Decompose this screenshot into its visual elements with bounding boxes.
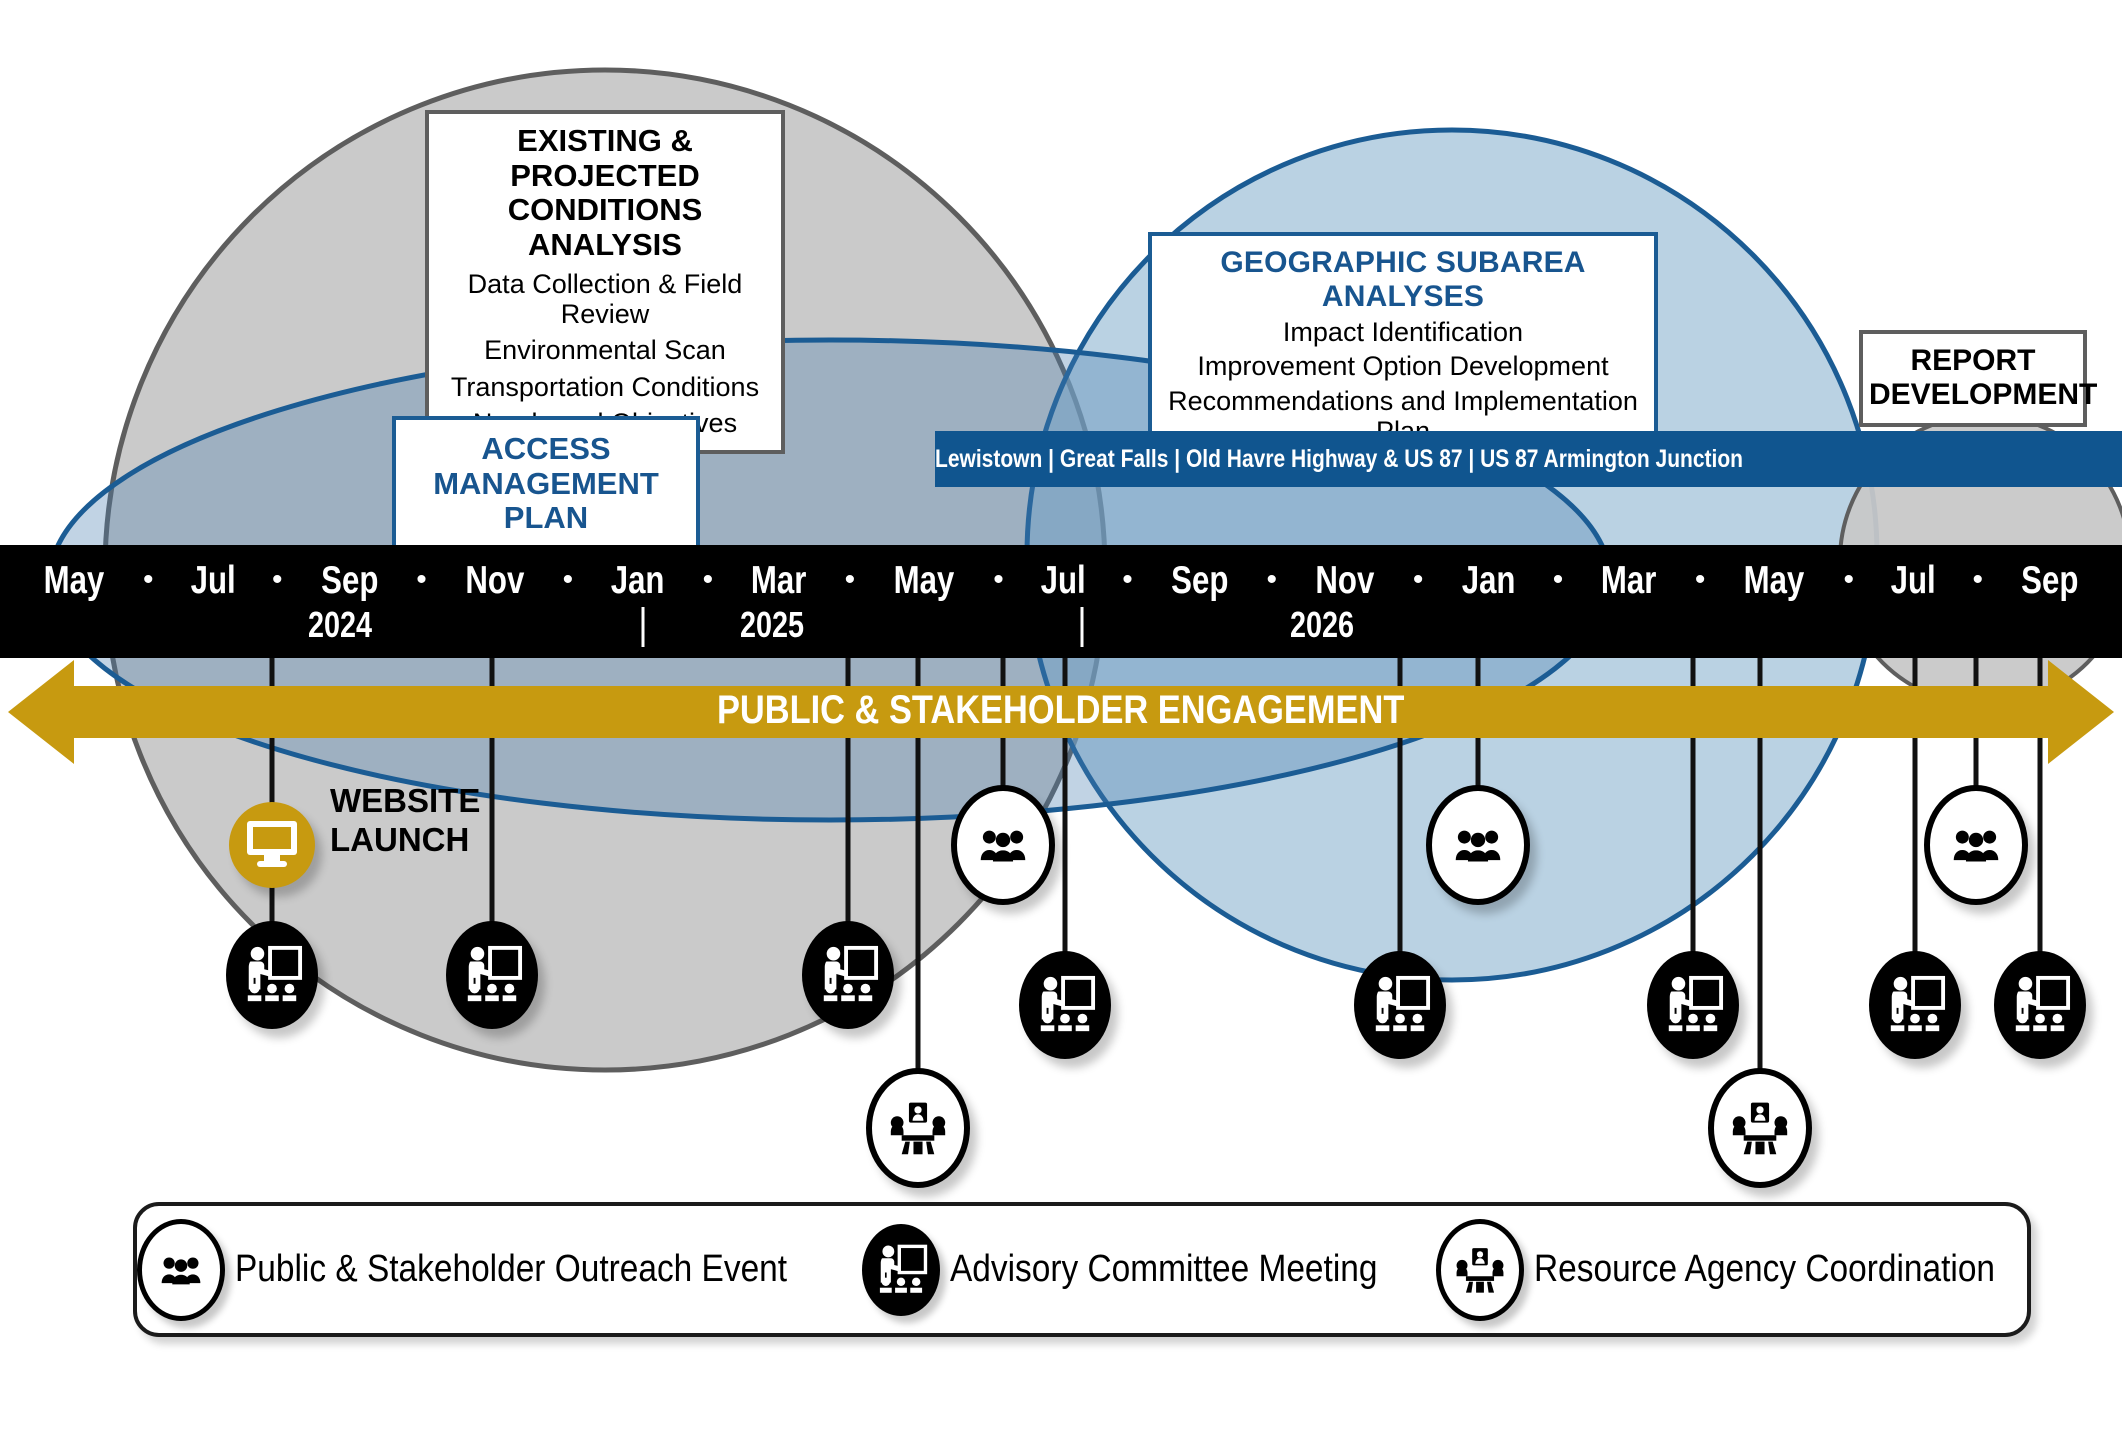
- timeline-separator: •: [563, 565, 574, 595]
- report-heading-line2: DEVELOPMENT: [1869, 378, 2077, 412]
- advisory-committee-meeting-icon: [817, 944, 879, 1006]
- legend: Public & Stakeholder Outreach EventAdvis…: [133, 1202, 2031, 1337]
- advisory-committee-meeting-icon: [1662, 974, 1724, 1036]
- public-stakeholder-outreach-event-icon: [1447, 822, 1509, 868]
- milestone-public-stakeholder-outreach-event[interactable]: [951, 785, 1055, 905]
- milestone-public-stakeholder-outreach-event[interactable]: [1924, 785, 2028, 905]
- milestone-advisory-committee-meeting[interactable]: [1647, 951, 1739, 1059]
- monitor-icon: [244, 819, 300, 871]
- conditions-heading-line1: EXISTING & PROJECTED: [437, 124, 773, 193]
- timeline-month-9: Nov: [1315, 561, 1374, 600]
- milestone-advisory-committee-meeting[interactable]: [1019, 951, 1111, 1059]
- timeline-month-4: Jan: [611, 561, 665, 600]
- timeline-month-1: Jul: [190, 561, 235, 600]
- timeline-bar: May•Jul•Sep•Nov•Jan•Mar•May•Jul•Sep•Nov•…: [0, 545, 2122, 658]
- timeline-separator: •: [1553, 565, 1564, 595]
- timeline-years: 202420252026: [0, 607, 2122, 655]
- subarea-locations-banner: Lewistown | Great Falls | Old Havre High…: [935, 431, 2122, 487]
- legend-label-0: Public & Stakeholder Outreach Event: [235, 1248, 787, 1291]
- milestone-advisory-committee-meeting[interactable]: [226, 921, 318, 1029]
- timeline-separator: •: [1413, 565, 1424, 595]
- timeline-month-12: May: [1744, 561, 1805, 600]
- advisory-committee-meeting-icon: [1369, 974, 1431, 1036]
- timeline-month-8: Sep: [1171, 561, 1228, 600]
- timeline-months: May•Jul•Sep•Nov•Jan•Mar•May•Jul•Sep•Nov•…: [0, 551, 2122, 609]
- timeline-year-2026: 2026: [1290, 607, 1354, 643]
- timeline-month-6: May: [894, 561, 955, 600]
- presenter-board-icon: [874, 1243, 928, 1297]
- milestone-bubble: [802, 921, 894, 1029]
- timeline-month-14: Sep: [2021, 561, 2078, 600]
- subarea-item-0: Impact Identification: [1160, 317, 1646, 347]
- milestone-advisory-committee-meeting[interactable]: [1869, 951, 1961, 1059]
- advisory-committee-meeting-icon: [2009, 974, 2071, 1036]
- phase-box-access-management: ACCESS MANAGEMENT PLAN: [392, 416, 700, 554]
- timeline-separator: •: [1267, 565, 1278, 595]
- phase-box-subarea: GEOGRAPHIC SUBAREA ANALYSES Impact Ident…: [1148, 232, 1658, 462]
- public-stakeholder-outreach-event-icon: [1945, 822, 2007, 868]
- milestone-bubble: [1994, 951, 2086, 1059]
- timeline-month-3: Nov: [465, 561, 524, 600]
- timeline-separator: •: [845, 565, 856, 595]
- advisory-committee-meeting-icon: [461, 944, 523, 1006]
- subarea-heading: GEOGRAPHIC SUBAREA ANALYSES: [1160, 246, 1646, 313]
- timeline-separator: •: [1695, 565, 1706, 595]
- website-launch-label-line1: WEBSITE: [330, 782, 480, 821]
- conditions-item-2: Transportation Conditions: [437, 372, 773, 402]
- resource-agency-coordination-icon: [1731, 1099, 1789, 1157]
- timeline-diagram: EXISTING & PROJECTED CONDITIONS ANALYSIS…: [0, 0, 2122, 1444]
- phase-box-conditions: EXISTING & PROJECTED CONDITIONS ANALYSIS…: [425, 110, 785, 454]
- legend-label-2: Resource Agency Coordination: [1534, 1248, 1995, 1291]
- milestone-public-stakeholder-outreach-event[interactable]: [1426, 785, 1530, 905]
- milestone-bubble: [446, 921, 538, 1029]
- report-heading-line1: REPORT: [1869, 344, 2077, 378]
- timeline-separator: •: [1843, 565, 1854, 595]
- timeline-separator: •: [1973, 565, 1984, 595]
- people-group-icon: [154, 1250, 208, 1290]
- timeline-separator: •: [993, 565, 1004, 595]
- milestone-bubble: [1426, 785, 1530, 905]
- milestone-advisory-committee-meeting[interactable]: [1994, 951, 2086, 1059]
- timeline-separator: •: [1122, 565, 1133, 595]
- milestone-bubble: [1924, 785, 2028, 905]
- public-stakeholder-outreach-event-icon: [972, 822, 1034, 868]
- timeline-month-2: Sep: [321, 561, 378, 600]
- subarea-locations-text: Lewistown | Great Falls | Old Havre High…: [935, 445, 1725, 474]
- timeline-month-5: Mar: [751, 561, 806, 600]
- timeline-month-7: Jul: [1040, 561, 1085, 600]
- legend-item-1: Advisory Committee Meeting: [862, 1224, 1436, 1316]
- milestone-bubble: [951, 785, 1055, 905]
- milestone-bubble: [1708, 1068, 1812, 1188]
- milestone-advisory-committee-meeting[interactable]: [1354, 951, 1446, 1059]
- milestone-bubble: [1647, 951, 1739, 1059]
- timeline-month-13: Jul: [1891, 561, 1936, 600]
- legend-item-2: Resource Agency Coordination: [1436, 1219, 2058, 1321]
- timeline-month-10: Jan: [1461, 561, 1515, 600]
- conditions-heading-line2: CONDITIONS ANALYSIS: [437, 193, 773, 262]
- timeline-month-0: May: [44, 561, 105, 600]
- website-launch-label: WEBSITE LAUNCH: [330, 782, 480, 860]
- milestone-bubble: [1869, 951, 1961, 1059]
- timeline-month-11: Mar: [1601, 561, 1656, 600]
- milestone-resource-agency-coordination[interactable]: [866, 1068, 970, 1188]
- timeline-year-2024: 2024: [307, 607, 371, 643]
- milestone-advisory-committee-meeting[interactable]: [446, 921, 538, 1029]
- legend-icon-wrapper: [137, 1219, 225, 1321]
- phase-box-report-development: REPORT DEVELOPMENT: [1859, 330, 2087, 427]
- website-launch-bubble: [229, 802, 315, 888]
- timeline-year-2025: 2025: [740, 607, 804, 643]
- timeline-separator: •: [416, 565, 427, 595]
- milestone-bubble: [226, 921, 318, 1029]
- resource-agency-coordination-icon: [889, 1099, 947, 1157]
- access-management-heading-line2: MANAGEMENT PLAN: [402, 467, 690, 536]
- milestone-bubble: [866, 1068, 970, 1188]
- legend-label-1: Advisory Committee Meeting: [950, 1248, 1377, 1291]
- legend-icon-wrapper: [862, 1224, 940, 1316]
- timeline-separator: •: [703, 565, 714, 595]
- roundtable-icon: [1455, 1245, 1505, 1295]
- milestone-bubble: [1354, 951, 1446, 1059]
- conditions-item-1: Environmental Scan: [437, 335, 773, 365]
- milestone-resource-agency-coordination[interactable]: [1708, 1068, 1812, 1188]
- advisory-committee-meeting-icon: [1034, 974, 1096, 1036]
- milestone-website-launch[interactable]: [229, 802, 315, 888]
- advisory-committee-meeting-icon: [241, 944, 303, 1006]
- milestone-advisory-committee-meeting[interactable]: [802, 921, 894, 1029]
- timeline-year-divider-0: [641, 607, 644, 647]
- subarea-item-1: Improvement Option Development: [1160, 351, 1646, 381]
- milestone-bubble: [1019, 951, 1111, 1059]
- legend-item-0: Public & Stakeholder Outreach Event: [137, 1219, 862, 1321]
- website-launch-label-line2: LAUNCH: [330, 821, 480, 860]
- timeline-year-divider-1: [1081, 607, 1084, 647]
- advisory-committee-meeting-icon: [1884, 974, 1946, 1036]
- conditions-item-0: Data Collection & Field Review: [437, 269, 773, 329]
- access-management-heading-line1: ACCESS: [402, 432, 690, 467]
- timeline-separator: •: [143, 565, 154, 595]
- legend-icon-wrapper: [1436, 1219, 1524, 1321]
- timeline-separator: •: [272, 565, 283, 595]
